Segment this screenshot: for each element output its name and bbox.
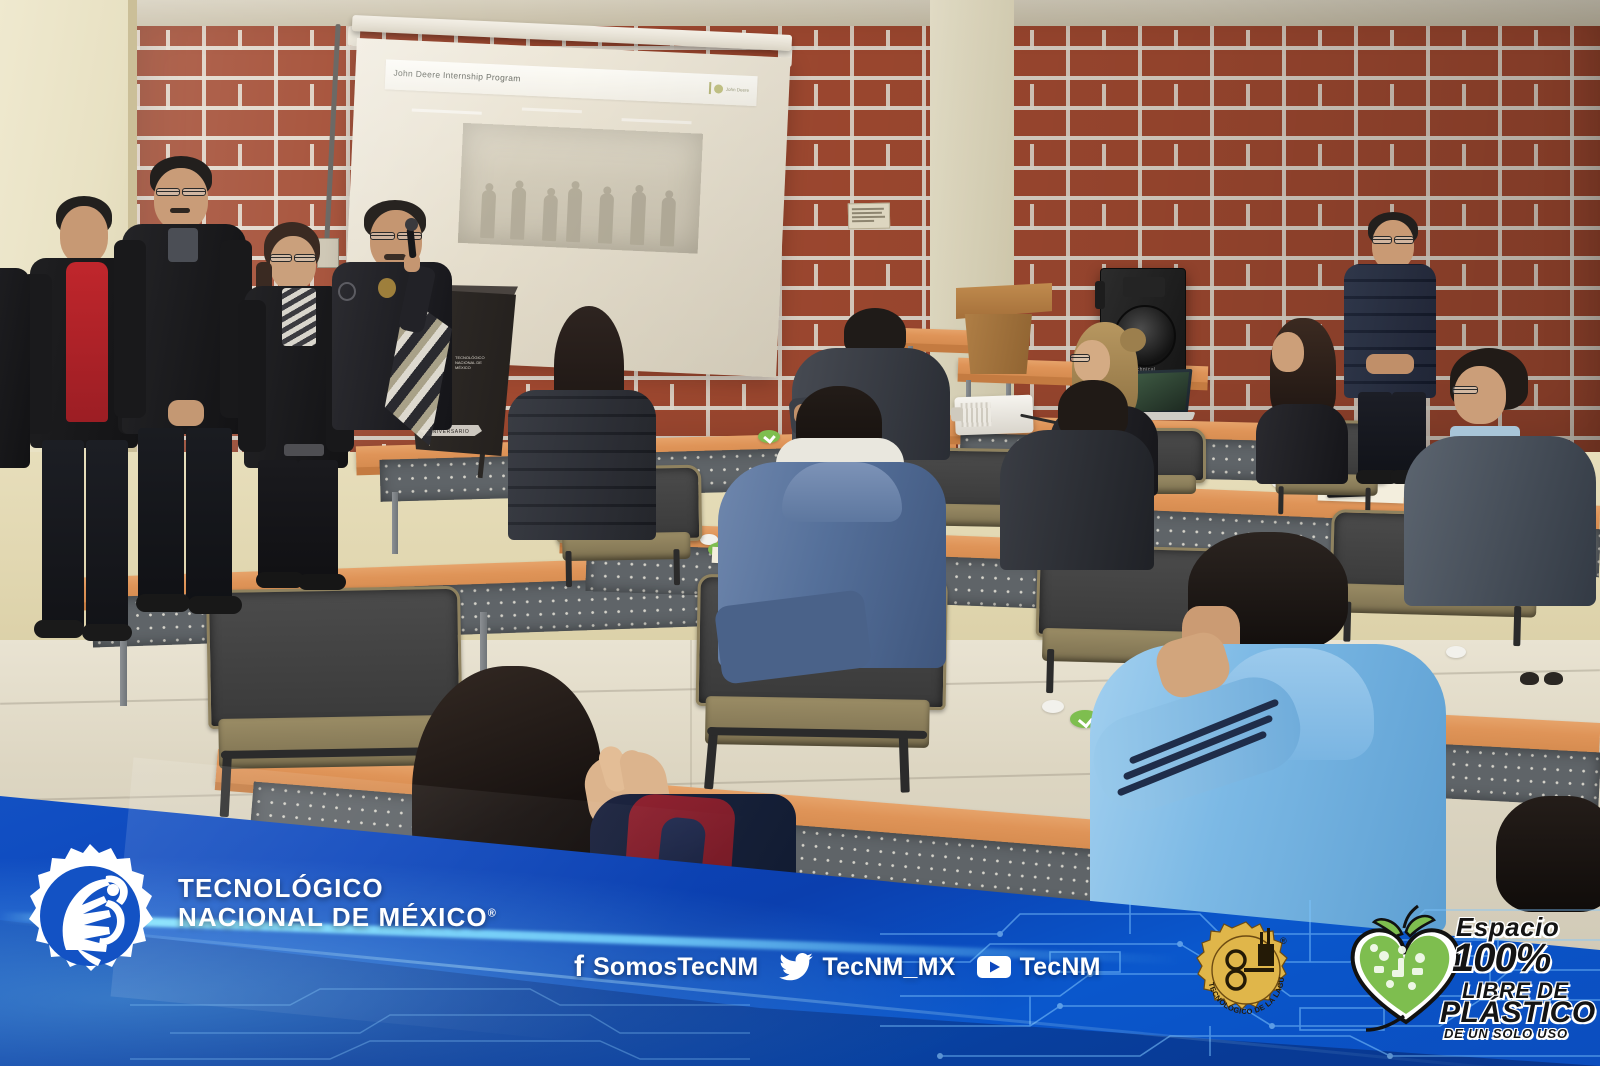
circuit-pattern-left (130, 985, 750, 1066)
presenter-4-speaking (326, 200, 450, 450)
twitter-icon[interactable] (779, 953, 813, 981)
twitter-handle[interactable]: TecNM_MX (822, 953, 955, 982)
attendee-partial-right (1496, 796, 1600, 916)
plastic-line-unsolouso: DE UN SOLO USO (1444, 1026, 1568, 1041)
facebook-icon[interactable]: f (574, 952, 584, 982)
tecnm-wordmark-line1: TECNOLÓGICO (178, 874, 497, 903)
registered-mark: ® (488, 907, 497, 919)
social-handles: f SomosTecNM TecNM_MX TecNM (574, 952, 1101, 982)
facebook-handle[interactable]: SomosTecNM (593, 953, 758, 982)
attendee-partial-left (0, 268, 30, 468)
youtube-icon[interactable] (977, 954, 1011, 980)
plastic-free-campaign-logo: Espacio 100% LIBRE DE PLÁSTICO DE UN SOL… (1340, 900, 1588, 1040)
distance-marker (1042, 700, 1064, 713)
plastic-line-plastico: PLÁSTICO (1440, 996, 1596, 1030)
tecnm-wordmark-line2: NACIONAL DE MÉXICO® (178, 903, 497, 932)
wooden-lectern-body (962, 314, 1032, 374)
sunglasses (1520, 672, 1566, 688)
table-leg (392, 492, 398, 554)
tecnologico-de-la-laguna-logo: TECNOLÓGICO DE LA LAGUNA ® (1196, 918, 1302, 1018)
plastic-line-100: 100% (1452, 936, 1550, 981)
youtube-handle[interactable]: TecNM (1020, 953, 1101, 982)
attendee-8-light-blue-hoodie (1062, 532, 1462, 932)
attendee-5 (1254, 318, 1350, 478)
tecnm-wordmark: TECNOLÓGICO NACIONAL DE MÉXICO® (178, 874, 497, 932)
tecnm-eagle-gear-logo (14, 840, 166, 992)
wall-plaque (848, 203, 890, 230)
speaker-handle (1095, 281, 1105, 309)
attendee-1 (502, 306, 660, 546)
photo-canvas: John Deere Internship Program John Deere (0, 0, 1600, 1066)
presenter-2 (112, 156, 256, 576)
registered-mark-campus: ® (1280, 936, 1287, 946)
speaker-tweeter (1123, 277, 1165, 297)
tecnm-podium-text: TECNOLÓGICO NACIONAL DE MÉXICO (455, 355, 497, 371)
projector-vent (961, 402, 992, 427)
attendee-3-blue-hoodie (706, 386, 950, 686)
podium-logo-line2: NACIONAL DE MÉXICO (455, 360, 497, 370)
